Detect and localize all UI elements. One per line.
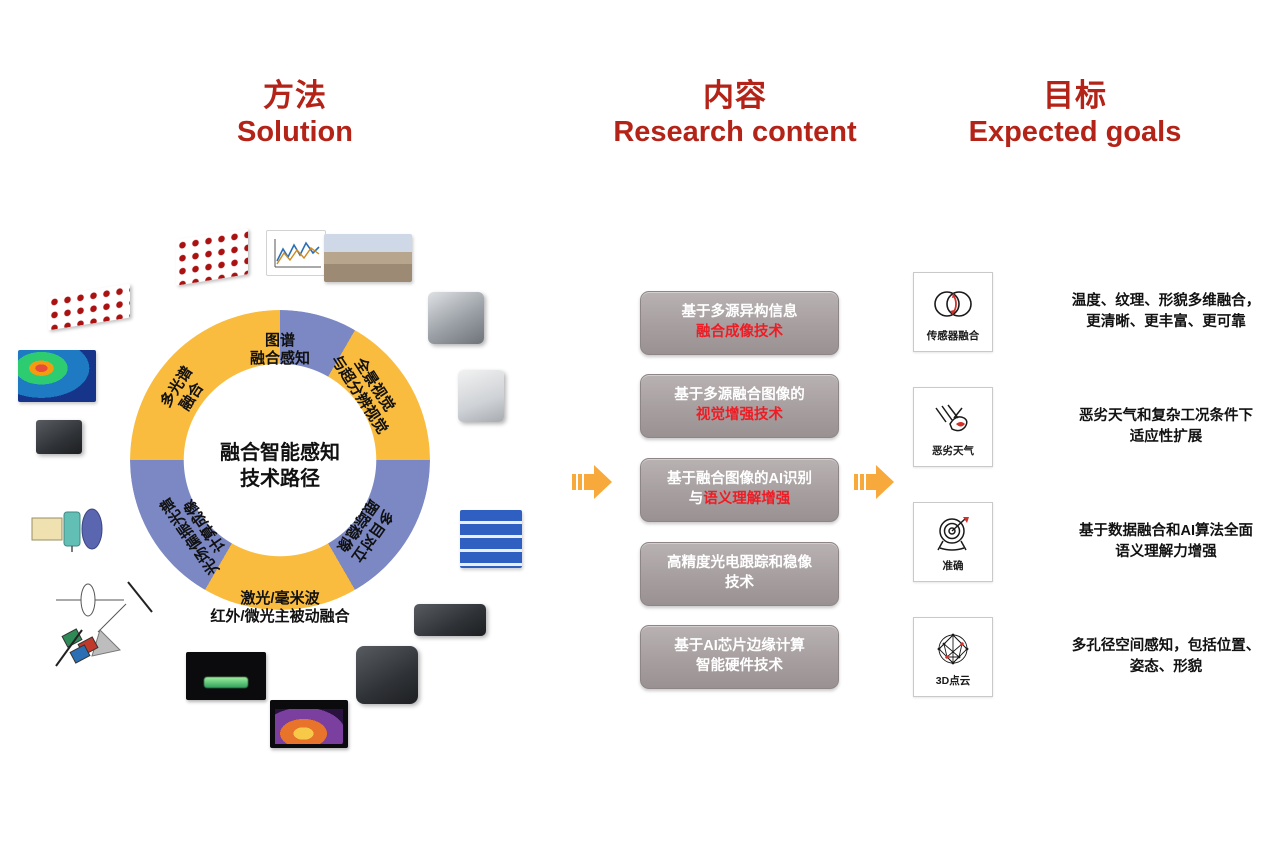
column-header-research-cn: 内容 [600, 78, 870, 115]
goal-text-3: 基于数据融合和AI算法全面 语义理解力增强 [1035, 521, 1268, 562]
arrow-content-to-goals [854, 460, 894, 504]
research-box-2[interactable]: 基于多源融合图像的 视觉增强技术 [640, 374, 839, 438]
goal-text-4: 多孔径空间感知，包括位置、 姿态、形貌 [1035, 636, 1268, 677]
sensor-fusion-icon [930, 282, 976, 326]
research-box-5-line2: 智能硬件技术 [674, 657, 805, 677]
polarization-optics-diagram-thumbnail [28, 502, 124, 554]
goal-row-4: 3D点云 多孔径空间感知，包括位置、 姿态、形貌 [913, 617, 1268, 697]
goal-card-2-caption: 恶劣天气 [932, 443, 974, 458]
goal-text-2-line2: 适应性扩展 [1035, 427, 1268, 448]
gimbal-turret-thumbnail [356, 646, 418, 704]
goal-text-3-line2: 语义理解力增强 [1035, 542, 1268, 563]
goal-text-1-line1: 温度、纹理、形貌多维融合， [1035, 291, 1268, 312]
research-box-3-prefix: 与 [689, 491, 704, 507]
column-header-solution-cn: 方法 [160, 78, 430, 115]
goal-card-2[interactable]: 恶劣天气 [913, 387, 993, 467]
column-header-research: 内容 Research content [600, 78, 870, 149]
research-box-3-line2: 语义理解增强 [703, 491, 790, 507]
hyperspectral-slab-thumbnail [48, 284, 130, 331]
scanner-device-thumbnail [458, 370, 504, 422]
research-box-4[interactable]: 高精度光电跟踪和稳像 技术 [640, 542, 839, 606]
goal-text-2: 恶劣天气和复杂工况条件下 适应性扩展 [1035, 406, 1268, 447]
wheel-center-line2: 技术路径 [170, 466, 390, 492]
goal-text-1: 温度、纹理、形貌多维融合， 更清晰、更丰富、更可靠 [1035, 291, 1268, 332]
goal-text-3-line1: 基于数据融合和AI算法全面 [1035, 521, 1268, 542]
research-box-1[interactable]: 基于多源异构信息 融合成像技术 [640, 291, 839, 355]
goal-card-3[interactable]: 准确 [913, 502, 993, 582]
research-box-5-line1: 基于AI芯片边缘计算 [674, 637, 805, 657]
segment-label-seg-bottom-line1: 激光/毫米波 [190, 590, 370, 608]
research-box-2-line2: 视觉增强技术 [696, 407, 783, 423]
goal-text-2-line1: 恶劣天气和复杂工况条件下 [1035, 406, 1268, 427]
goal-text-1-line2: 更清晰、更丰富、更可靠 [1035, 312, 1268, 333]
industrial-pipeline-photo-thumbnail [324, 234, 412, 282]
thermal-scene-thumbnail [270, 700, 348, 748]
goal-card-4[interactable]: 3D点云 [913, 617, 993, 697]
arrow-solution-to-content [572, 460, 612, 504]
segment-label-seg-bottom: 激光/毫米波 红外/微光主被动融合 [190, 590, 370, 627]
wheel-center-label: 融合智能感知 技术路径 [170, 440, 390, 492]
hyperspectral-cube-thumbnail [176, 228, 248, 285]
solution-wheel: 图谱 融合感知 全景视觉 与超分辨视觉 多目对立 跟踪稳像 激光/毫米波 红外/… [18, 222, 538, 742]
goal-card-4-caption: 3D点云 [936, 673, 970, 688]
column-header-goals: 目标 Expected goals [940, 78, 1210, 149]
goal-row-2: 恶劣天气 恶劣天气和复杂工况条件下 适应性扩展 [913, 387, 1268, 467]
bad-weather-icon [930, 397, 976, 441]
column-header-solution-en: Solution [160, 115, 430, 149]
research-box-3[interactable]: 基于融合图像的AI识别 与语义理解增强 [640, 458, 839, 522]
column-header-research-en: Research content [600, 115, 870, 149]
optical-path-diagram-thumbnail [48, 574, 168, 670]
column-header-goals-en: Expected goals [940, 115, 1210, 149]
research-box-3-line1: 基于融合图像的AI识别 [667, 470, 812, 490]
blue-target-image-thumbnail [460, 510, 522, 568]
point-cloud-icon [932, 627, 974, 671]
goal-text-4-line2: 姿态、形貌 [1035, 657, 1268, 678]
camera-module-thumbnail [36, 420, 82, 454]
goal-row-1: 传感器融合 温度、纹理、形貌多维融合， 更清晰、更丰富、更可靠 [913, 272, 1268, 352]
multi-camera-rig-thumbnail [428, 292, 484, 344]
research-box-5[interactable]: 基于AI芯片边缘计算 智能硬件技术 [640, 625, 839, 689]
thermal-image-thumbnail [18, 350, 96, 402]
research-box-1-line1: 基于多源异构信息 [682, 303, 798, 323]
lidar-point-cloud-thumbnail [186, 652, 266, 700]
target-accuracy-icon [931, 512, 975, 556]
research-box-1-line2: 融合成像技术 [696, 324, 783, 340]
segment-label-seg-bottom-line2: 红外/微光主被动融合 [190, 608, 370, 626]
column-header-goals-cn: 目标 [940, 78, 1210, 115]
goal-card-3-caption: 准确 [943, 558, 964, 573]
research-box-2-line1: 基于多源融合图像的 [674, 386, 805, 406]
wheel-center-line1: 融合智能感知 [170, 440, 390, 466]
column-header-solution: 方法 Solution [160, 78, 430, 149]
spectral-curve-plot-thumbnail [266, 230, 326, 276]
goal-card-1[interactable]: 传感器融合 [913, 272, 993, 352]
research-box-4-line2: 技术 [667, 574, 812, 594]
stereo-camera-thumbnail [414, 604, 486, 636]
goal-row-3: 准确 基于数据融合和AI算法全面 语义理解力增强 [913, 502, 1268, 582]
research-box-4-line1: 高精度光电跟踪和稳像 [667, 554, 812, 574]
goal-card-1-caption: 传感器融合 [927, 328, 980, 343]
goal-text-4-line1: 多孔径空间感知，包括位置、 [1035, 636, 1268, 657]
